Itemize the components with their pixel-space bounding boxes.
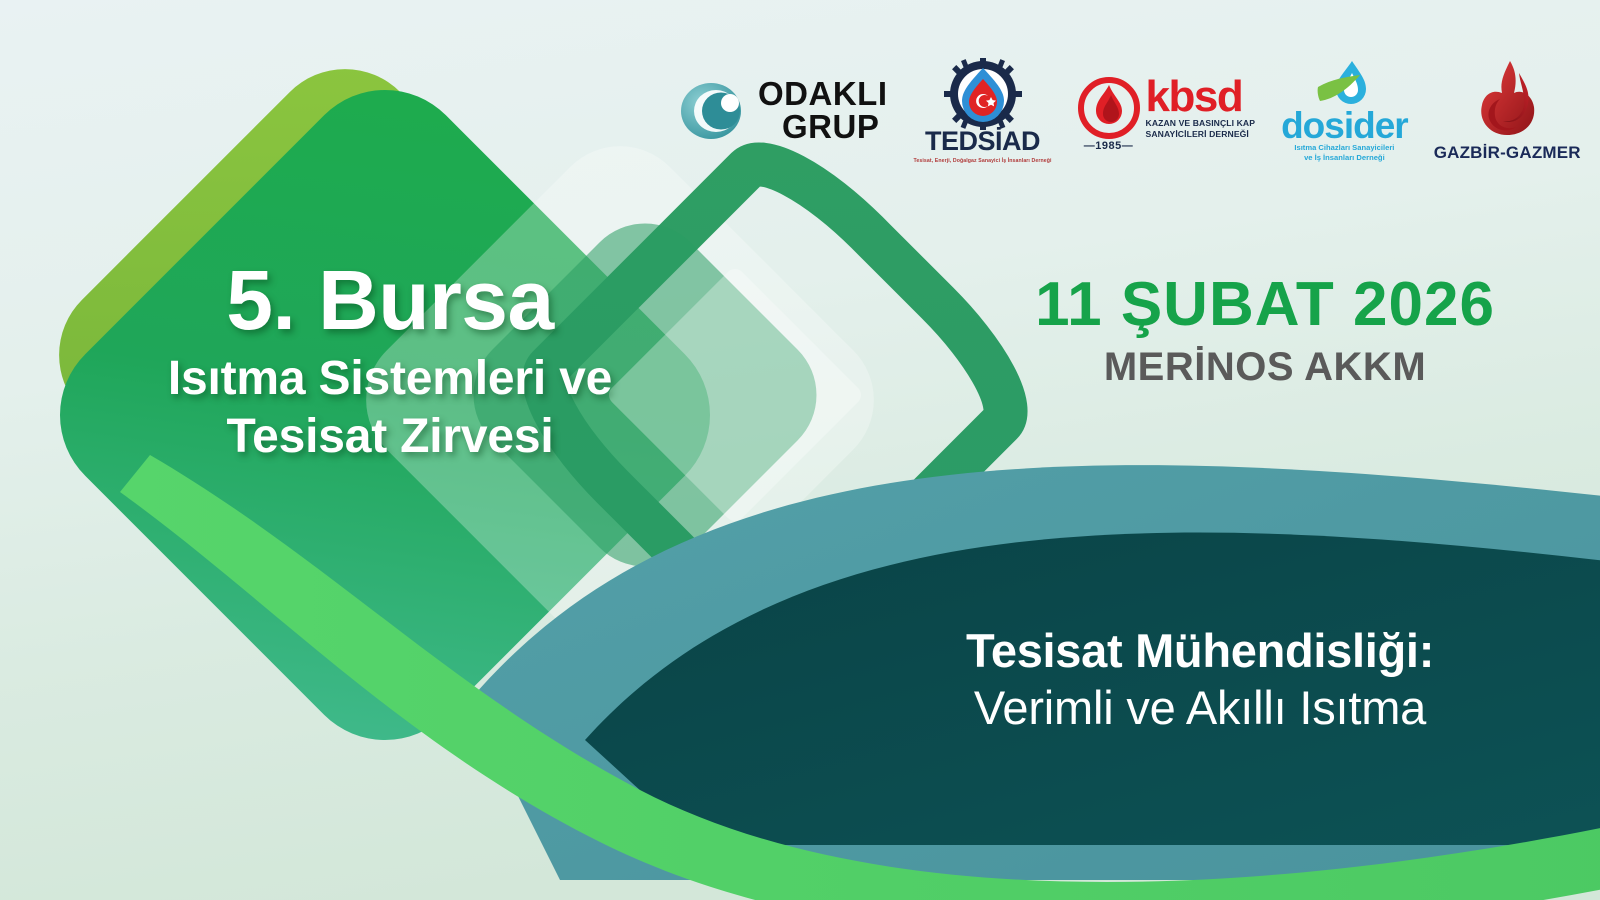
event-headline: 5. Bursa Isıtma Sistemleri ve Tesisat Zi…: [110, 258, 670, 467]
theme-line2: Verimli ve Akıllı Isıtma: [880, 679, 1520, 738]
kbsd-text-group: kbsd KAZAN VE BASINÇLI KAP SANAYİCİLERİ …: [1146, 77, 1256, 139]
gazbir-wordmark: GAZBİR-GAZMER: [1434, 143, 1581, 163]
odakli-line2: GRUP: [758, 111, 888, 143]
kbsd-year: —1985—: [1084, 140, 1133, 152]
event-date-venue-block: 11 ŞUBAT 2026 MERİNOS AKKM: [1020, 272, 1510, 390]
tedsiad-wordmark: TEDSİAD: [925, 126, 1040, 157]
odakli-grup-wordmark: ODAKLI GRUP: [758, 78, 888, 143]
event-venue: MERİNOS AKKM: [1020, 345, 1510, 390]
kbsd-year-dash-left: —: [1084, 140, 1096, 152]
sponsor-logo-strip: ODAKLI GRUP: [680, 48, 1550, 173]
kbsd-year-dash-right: —: [1122, 140, 1134, 152]
tedsiad-tagline: Tesisat, Enerji, Doğalgaz Sanayici İş İn…: [914, 158, 1052, 164]
dosider-tagline-line1: Isıtma Cihazları Sanayicileri: [1294, 143, 1394, 152]
sponsor-logo-tedsiad[interactable]: TEDSİAD Tesisat, Enerji, Doğalgaz Sanayi…: [914, 58, 1052, 164]
blue-green-leaf-droplet-icon: [1316, 59, 1372, 111]
odakli-line1: ODAKLI: [758, 78, 888, 110]
event-date: 11 ŞUBAT 2026: [1020, 272, 1510, 337]
teal-crescent-circle-icon: [680, 79, 746, 143]
gear-flame-droplet-icon: [944, 58, 1022, 130]
headline-line2: Isıtma Sistemleri ve: [110, 350, 670, 409]
kbsd-tagline: KAZAN VE BASINÇLI KAP SANAYİCİLERİ DERNE…: [1146, 118, 1256, 139]
sponsor-logo-dosider[interactable]: dosider Isıtma Cihazları Sanayicileri ve…: [1281, 59, 1408, 162]
red-flame-icon: [1470, 59, 1544, 141]
kbsd-mark-group: —1985—: [1078, 77, 1140, 152]
dosider-wordmark: dosider: [1281, 109, 1408, 142]
dosider-tagline-line2: ve İş İnsanları Derneği: [1294, 153, 1394, 162]
sponsor-logo-odakli-grup[interactable]: ODAKLI GRUP: [680, 78, 888, 143]
kbsd-tagline-line1: KAZAN VE BASINÇLI KAP: [1146, 118, 1256, 128]
kbsd-wordmark: kbsd: [1146, 79, 1256, 115]
theme-line1: Tesisat Mühendisliği:: [880, 622, 1520, 679]
kbsd-year-value: 1985: [1095, 140, 1121, 152]
sponsor-logo-gazbir-gazmer[interactable]: GAZBİR-GAZMER: [1434, 59, 1581, 163]
headline-line3: Tesisat Zirvesi: [110, 408, 670, 467]
kbsd-tagline-line2: SANAYİCİLERİ DERNEĞİ: [1146, 129, 1256, 139]
headline-line1: 5. Bursa: [110, 258, 670, 344]
event-theme-block: Tesisat Mühendisliği: Verimli ve Akıllı …: [880, 622, 1520, 738]
sponsor-logo-kbsd[interactable]: —1985— kbsd KAZAN VE BASINÇLI KAP SANAYİ…: [1078, 69, 1256, 152]
red-flame-circle-icon: [1078, 77, 1140, 139]
event-banner: ODAKLI GRUP: [0, 0, 1600, 900]
dosider-tagline: Isıtma Cihazları Sanayicileri ve İş İnsa…: [1294, 143, 1394, 162]
